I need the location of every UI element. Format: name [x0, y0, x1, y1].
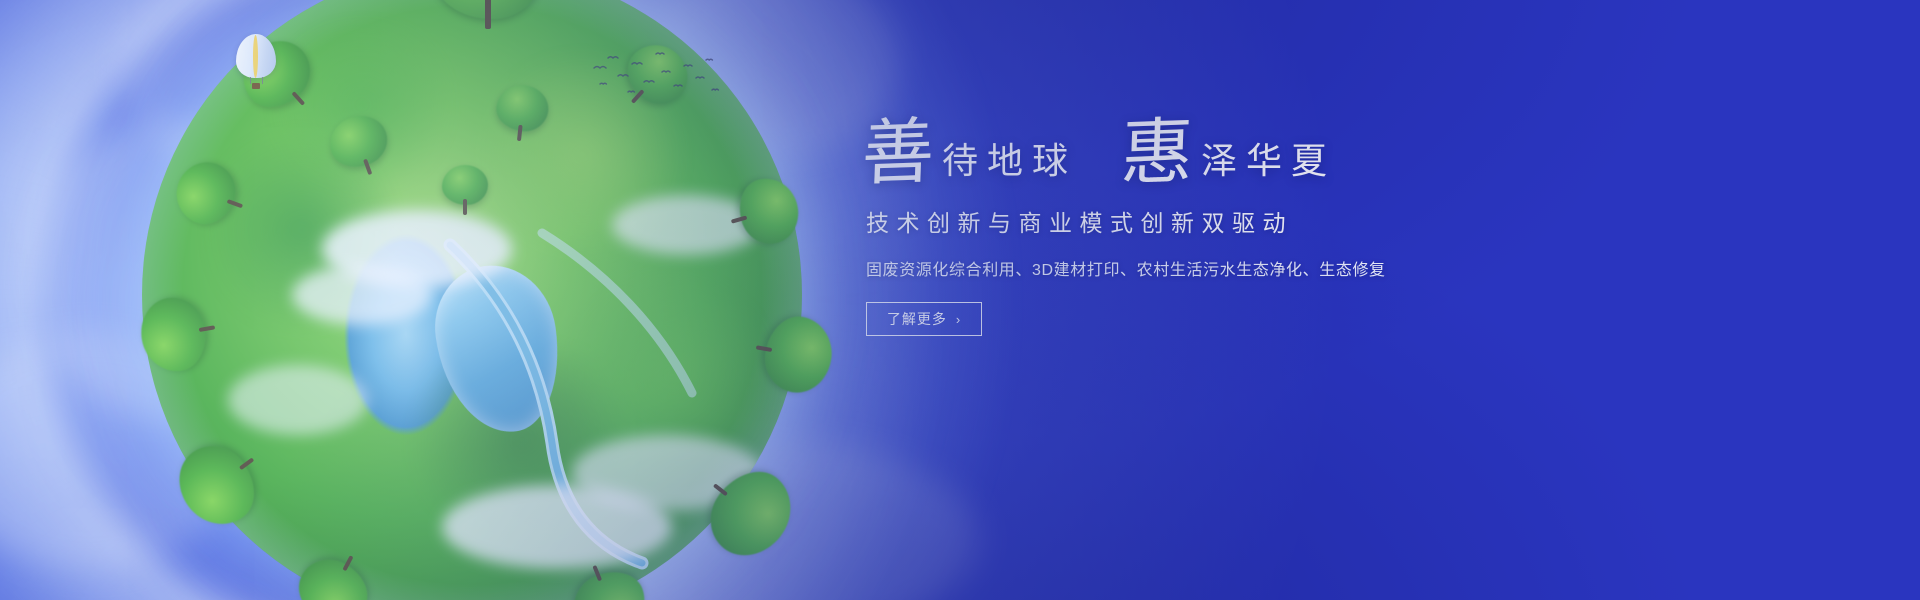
cloud-icon — [292, 265, 432, 325]
tree-icon — [136, 293, 212, 377]
cloud-icon — [228, 365, 368, 435]
banner-description: 固废资源化综合利用、3D建材打印、农村生活污水生态净化、生态修复 — [866, 256, 1562, 280]
headline: 善 待地球 惠 泽华夏 — [862, 120, 1562, 186]
headline-lead-char-1: 善 — [861, 119, 935, 188]
chevron-right-icon: › — [956, 313, 961, 326]
headline-rest-1: 待地球 — [934, 143, 1077, 186]
tree-icon — [434, 0, 542, 19]
learn-more-button[interactable]: 了解更多 › — [866, 302, 982, 336]
learn-more-label: 了解更多 — [887, 309, 947, 329]
hot-air-balloon-icon — [236, 34, 276, 92]
headline-rest-2: 泽华夏 — [1193, 143, 1336, 186]
banner-subtitle: 技术创新与商业模式创新双驱动 — [866, 204, 1562, 238]
flock-of-birds-icon — [592, 52, 722, 98]
tree-icon — [759, 312, 837, 398]
tree-icon — [442, 165, 488, 205]
tree-icon — [494, 83, 551, 134]
headline-lead-char-2: 惠 — [1120, 119, 1194, 188]
banner-copy: 善 待地球 惠 泽华夏 技术创新与商业模式创新双驱动 固废资源化综合利用、3D建… — [862, 120, 1562, 336]
hero-banner: 善 待地球 惠 泽华夏 技术创新与商业模式创新双驱动 固废资源化综合利用、3D建… — [0, 0, 1920, 600]
